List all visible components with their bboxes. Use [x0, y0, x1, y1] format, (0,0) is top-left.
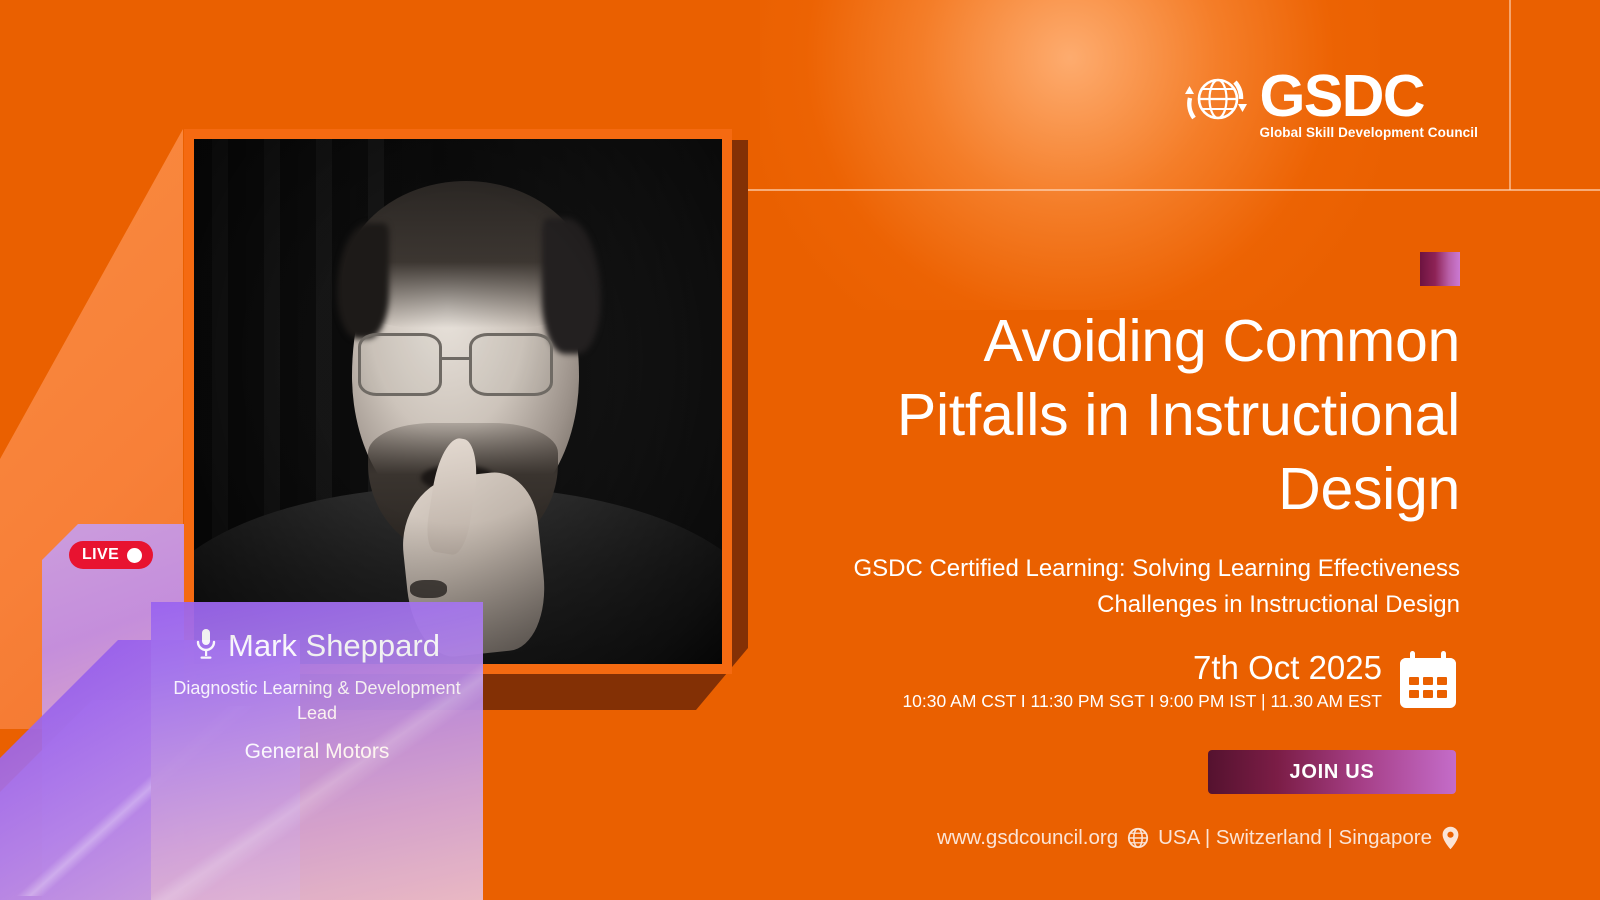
- speaker-organization: General Motors: [167, 740, 467, 764]
- webinar-promo-banner: LIVE Mark Sheppard Diagnostic Learning &…: [0, 0, 1600, 900]
- gsdc-logo-main: GSDC: [1260, 71, 1424, 122]
- vertical-divider-line: [1509, 0, 1511, 190]
- horizontal-divider-line: [748, 189, 1600, 191]
- microphone-icon: [194, 628, 218, 662]
- subtitle-line-2: Challenges in Instructional Design: [760, 587, 1460, 623]
- subtitle-line-1: GSDC Certified Learning: Solving Learnin…: [760, 551, 1460, 587]
- speaker-name-row: Mark Sheppard: [167, 628, 467, 662]
- status-badge: LIVE: [69, 541, 153, 569]
- title-line-1: Avoiding Common: [700, 305, 1460, 379]
- title-line-2: Pitfalls in Instructional: [700, 379, 1460, 453]
- footer: www.gsdcouncil.org USA | Switzerland | S…: [937, 826, 1460, 850]
- page-subtitle: GSDC Certified Learning: Solving Learnin…: [760, 551, 1460, 624]
- footer-website[interactable]: www.gsdcouncil.org: [937, 826, 1118, 850]
- join-us-button[interactable]: JOIN US: [1208, 750, 1456, 794]
- gradient-square-decoration: [1420, 252, 1460, 286]
- event-datetime: 7th Oct 2025 10:30 AM CST I 11:30 PM SGT…: [840, 650, 1460, 712]
- location-pin-icon: [1441, 826, 1460, 850]
- speaker-name: Mark Sheppard: [228, 630, 440, 661]
- title-line-3: Design: [700, 453, 1460, 527]
- gsdc-logo-text: GSDC Global Skill Development Council: [1260, 71, 1479, 140]
- event-datetime-text: 7th Oct 2025 10:30 AM CST I 11:30 PM SGT…: [902, 650, 1382, 711]
- event-times: 10:30 AM CST I 11:30 PM SGT I 9:00 PM IS…: [902, 691, 1382, 712]
- event-date: 7th Oct 2025: [902, 650, 1382, 686]
- speaker-role: Diagnostic Learning & Development Lead: [167, 676, 467, 726]
- live-label: LIVE: [82, 546, 119, 564]
- globe-icon: [1127, 827, 1149, 849]
- speaker-photo: [194, 139, 722, 664]
- gsdc-logo: GSDC Global Skill Development Council: [1180, 66, 1479, 140]
- speaker-photo-frame: [184, 129, 732, 674]
- calendar-icon: [1396, 650, 1460, 712]
- page-title: Avoiding Common Pitfalls in Instructiona…: [700, 305, 1460, 526]
- gsdc-logo-subtitle: Global Skill Development Council: [1260, 125, 1479, 140]
- footer-locations: USA | Switzerland | Singapore: [1158, 826, 1432, 850]
- live-dot-icon: [127, 548, 142, 563]
- speaker-card: Mark Sheppard Diagnostic Learning & Deve…: [151, 602, 483, 900]
- join-us-label: JOIN US: [1290, 761, 1375, 784]
- top-glow-decoration: [760, 0, 1380, 310]
- globe-arrows-icon: [1180, 66, 1254, 140]
